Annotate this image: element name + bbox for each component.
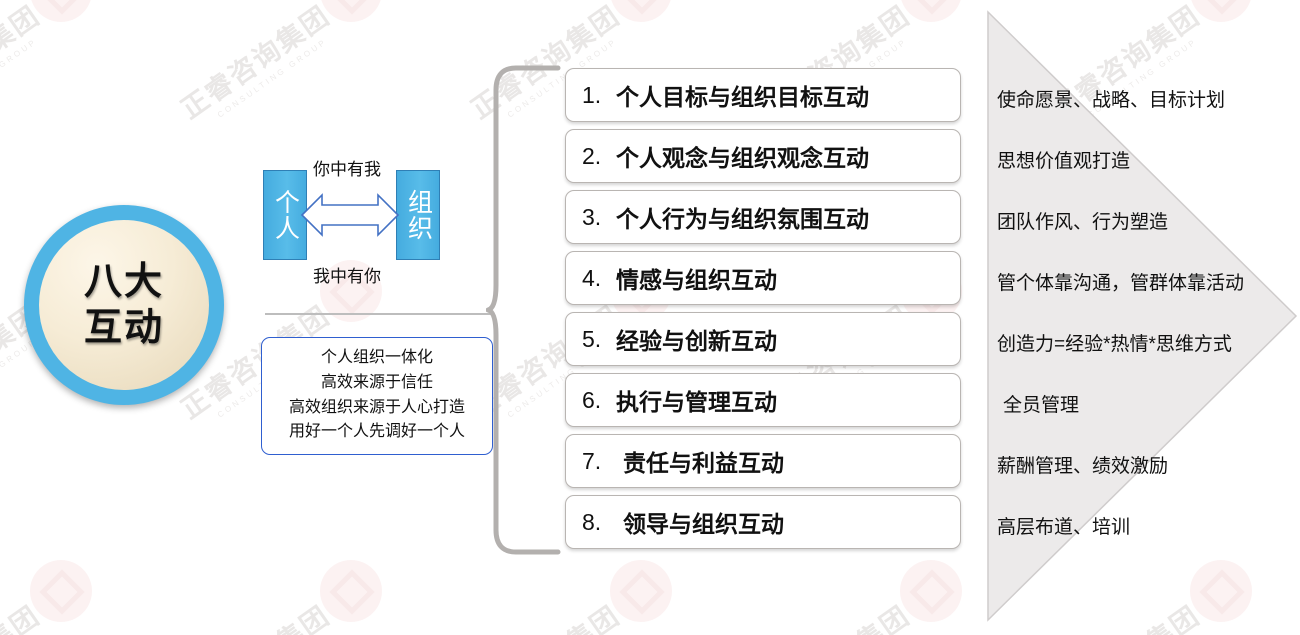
item-number: 5. xyxy=(582,326,616,353)
double-arrow-icon xyxy=(300,186,400,244)
note-item: 全员管理 xyxy=(997,373,1297,434)
item-label: 执行与管理互动 xyxy=(616,383,777,417)
interaction-items-list: 1. 个人目标与组织目标互动 2. 个人观念与组织观念互动 3. 个人行为与组织… xyxy=(565,68,961,556)
note-item: 思想价值观打造 xyxy=(997,129,1297,190)
center-title-line1: 八大 xyxy=(84,259,164,305)
note-item: 创造力=经验*热情*思维方式 xyxy=(997,312,1297,373)
item-number: 1. xyxy=(582,82,616,109)
center-title-line2: 互动 xyxy=(84,305,164,351)
list-item[interactable]: 5. 经验与创新互动 xyxy=(565,312,961,366)
note-item: 薪酬管理、绩效激励 xyxy=(997,434,1297,495)
list-item[interactable]: 6. 执行与管理互动 xyxy=(565,373,961,427)
curly-brace xyxy=(486,60,566,560)
item-number: 7. xyxy=(582,448,623,475)
list-item[interactable]: 1. 个人目标与组织目标互动 xyxy=(565,68,961,122)
item-number: 3. xyxy=(582,204,616,231)
motto-line: 用好一个人先调好一个人 xyxy=(268,420,486,445)
note-item: 管个体靠沟通，管群体靠活动 xyxy=(997,251,1297,312)
motto-box: 个人组织一体化 高效来源于信任 高效组织来源于人心打造 用好一个人先调好一个人 xyxy=(261,337,493,455)
diagram-canvas: 正睿咨询集团CONSULTING GROUP正睿咨询集团CONSULTING G… xyxy=(0,0,1300,635)
center-circle-inner: 八大 互动 xyxy=(39,220,209,390)
item-number: 8. xyxy=(582,509,623,536)
item-label: 经验与创新互动 xyxy=(616,322,777,356)
item-label: 情感与组织互动 xyxy=(616,261,777,295)
item-number: 6. xyxy=(582,387,616,414)
item-label: 个人目标与组织目标互动 xyxy=(616,78,869,112)
list-item[interactable]: 2. 个人观念与组织观念互动 xyxy=(565,129,961,183)
interaction-label-bottom: 我中有你 xyxy=(313,262,381,287)
list-item[interactable]: 3. 个人行为与组织氛围互动 xyxy=(565,190,961,244)
divider-line xyxy=(265,313,493,315)
list-item[interactable]: 7. 责任与利益互动 xyxy=(565,434,961,488)
motto-line: 高效来源于信任 xyxy=(268,371,486,396)
item-label: 领导与组织互动 xyxy=(623,505,784,539)
note-item: 高层布道、培训 xyxy=(997,495,1297,556)
item-label: 个人行为与组织氛围互动 xyxy=(616,200,869,234)
item-label: 个人观念与组织观念互动 xyxy=(616,139,869,173)
person-label: 个人 xyxy=(272,189,299,241)
motto-line: 个人组织一体化 xyxy=(268,346,486,371)
item-number: 4. xyxy=(582,265,616,292)
organization-label: 组织 xyxy=(405,189,432,241)
note-item: 团队作风、行为塑造 xyxy=(997,190,1297,251)
center-circle: 八大 互动 xyxy=(24,205,224,405)
organization-box: 组织 xyxy=(396,170,440,260)
notes-list: 使命愿景、战略、目标计划 思想价值观打造 团队作风、行为塑造 管个体靠沟通，管群… xyxy=(997,68,1297,556)
note-item: 使命愿景、战略、目标计划 xyxy=(997,68,1297,129)
item-label: 责任与利益互动 xyxy=(623,444,784,478)
list-item[interactable]: 8. 领导与组织互动 xyxy=(565,495,961,549)
motto-line: 高效组织来源于人心打造 xyxy=(268,396,486,421)
item-number: 2. xyxy=(582,143,616,170)
interaction-label-top: 你中有我 xyxy=(313,155,381,180)
list-item[interactable]: 4. 情感与组织互动 xyxy=(565,251,961,305)
